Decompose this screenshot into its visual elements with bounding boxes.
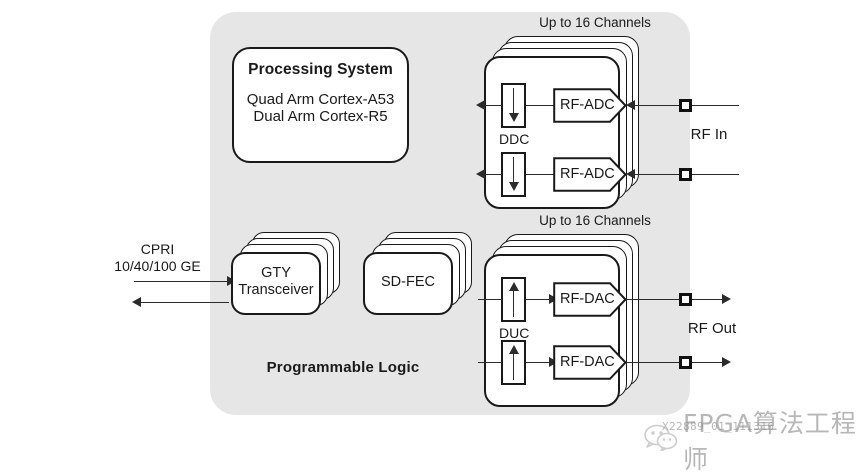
ddc-to-adc-wire-2: [526, 174, 555, 175]
rf-dac-label-1: RF-DAC: [560, 291, 615, 308]
duc-arrow-shaft-1: [513, 290, 514, 317]
adc-channels-label: Up to 16 Channels: [508, 15, 682, 31]
ddc-arrow-shaft-1: [513, 88, 514, 115]
duc-to-dac-wire-2: [526, 362, 551, 363]
duc-input-wire-2: [478, 362, 502, 363]
duc-arrow-up-icon-2: [509, 345, 519, 354]
rf-out-connector-2[interactable]: [679, 356, 692, 369]
rf-out-wire-2: [626, 362, 725, 363]
watermark: FPGA算法工程师: [644, 404, 865, 476]
rf-out-arrow-icon-2: [722, 357, 731, 367]
programmable-logic-label: Programmable Logic: [248, 359, 438, 377]
ddc-output-arrow-icon-2: [476, 169, 485, 179]
rf-in-connector-2[interactable]: [679, 168, 692, 181]
rf-in-label: RF In: [669, 126, 749, 144]
watermark-text: FPGA算法工程师: [683, 404, 865, 476]
rf-out-label: RF Out: [669, 320, 755, 338]
ddc-label: DDC: [499, 131, 529, 148]
rf-out-wire-1: [626, 299, 725, 300]
rf-out-connector-1[interactable]: [679, 293, 692, 306]
rf-in-arrow-icon-1: [626, 100, 635, 110]
gty-label-line1: GTY: [231, 265, 321, 282]
ddc-arrow-shaft-2: [513, 157, 514, 184]
sdfec-label: SD-FEC: [363, 274, 453, 291]
ddc-output-arrow-icon-1: [476, 100, 485, 110]
rf-dac-label-2: RF-DAC: [560, 354, 615, 371]
cpri-output-arrow-icon: [132, 297, 141, 307]
duc-label: DUC: [499, 325, 529, 342]
block-diagram: Processing System Quad Arm Cortex-A53 Du…: [0, 0, 865, 457]
duc-to-dac-wire-1: [526, 299, 551, 300]
dac-channels-label: Up to 16 Channels: [508, 213, 682, 229]
cpri-label-line2: 10/40/100 GE: [96, 258, 219, 275]
ddc-arrow-down-icon-2: [509, 182, 519, 191]
duc-input-wire-1: [478, 299, 502, 300]
ddc-to-adc-wire-1: [526, 105, 555, 106]
rf-in-connector-1[interactable]: [679, 99, 692, 112]
duc-arrow-shaft-2: [513, 353, 514, 380]
rf-out-arrow-icon-1: [722, 294, 731, 304]
rf-in-arrow-icon-2: [626, 169, 635, 179]
wechat-icon: [644, 424, 678, 456]
processing-system-title: Processing System: [232, 61, 409, 79]
rf-adc-label-1: RF-ADC: [560, 97, 615, 114]
duc-arrow-up-icon-1: [509, 282, 519, 291]
cpri-input-wire: [134, 281, 229, 282]
ddc-arrow-down-icon-1: [509, 113, 519, 122]
cpri-label-line1: CPRI: [96, 241, 219, 258]
rf-adc-label-2: RF-ADC: [560, 166, 615, 183]
processing-system-line2: Dual Arm Cortex-R5: [232, 108, 409, 126]
cpri-output-wire: [134, 302, 229, 303]
gty-label-line2: Transceiver: [229, 282, 323, 299]
processing-system-line1: Quad Arm Cortex-A53: [232, 91, 409, 109]
